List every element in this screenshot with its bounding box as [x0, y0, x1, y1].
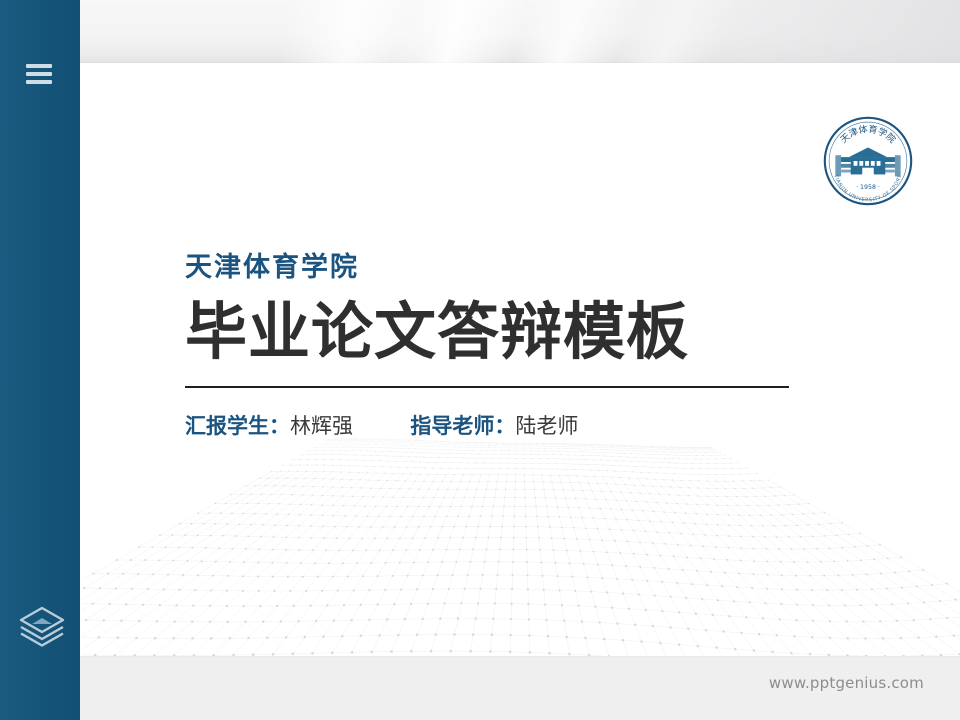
layers-stack-icon[interactable]: [18, 604, 66, 648]
page-title: 毕业论文答辩模板: [185, 299, 825, 364]
byline: 汇报学生：林辉强 指导老师：陆老师: [185, 410, 825, 440]
menu-bar: [26, 80, 52, 84]
title-divider: [185, 386, 789, 388]
menu-bar: [26, 64, 52, 68]
dotted-wave-mesh: [80, 426, 960, 656]
viewer-footer: www.pptgenius.com: [0, 656, 960, 720]
tianjin-university-of-sport-seal: 天津体育学院 · 1958 · TIANJIN UNIVERSITY OF SP…: [820, 113, 916, 209]
hamburger-menu-icon[interactable]: [26, 62, 54, 86]
byline-student-label: 汇报学生: [185, 414, 269, 438]
slide-left-edge: [80, 63, 82, 656]
title-block: 天津体育学院 毕业论文答辩模板 汇报学生：林辉强 指导老师：陆老师: [185, 253, 825, 440]
footer-url: www.pptgenius.com: [769, 674, 924, 692]
seal-year: · 1958 ·: [856, 184, 880, 191]
left-sidebar: [0, 0, 80, 720]
byline-student-separator: ：: [269, 414, 290, 438]
slide-canvas[interactable]: 天津体育学院 · 1958 · TIANJIN UNIVERSITY OF SP…: [80, 63, 960, 656]
presentation-viewer: www.pptgenius.com: [0, 0, 960, 720]
page-background-top-band: [0, 0, 960, 63]
university-name: 天津体育学院: [185, 253, 825, 283]
byline-student-value: 林辉强: [290, 414, 353, 438]
byline-advisor-separator: ：: [494, 414, 515, 438]
byline-advisor-value: 陆老师: [515, 414, 578, 438]
decorative-gradient: [540, 0, 960, 63]
menu-bar: [26, 72, 52, 76]
byline-advisor-label: 指导老师: [410, 414, 494, 438]
